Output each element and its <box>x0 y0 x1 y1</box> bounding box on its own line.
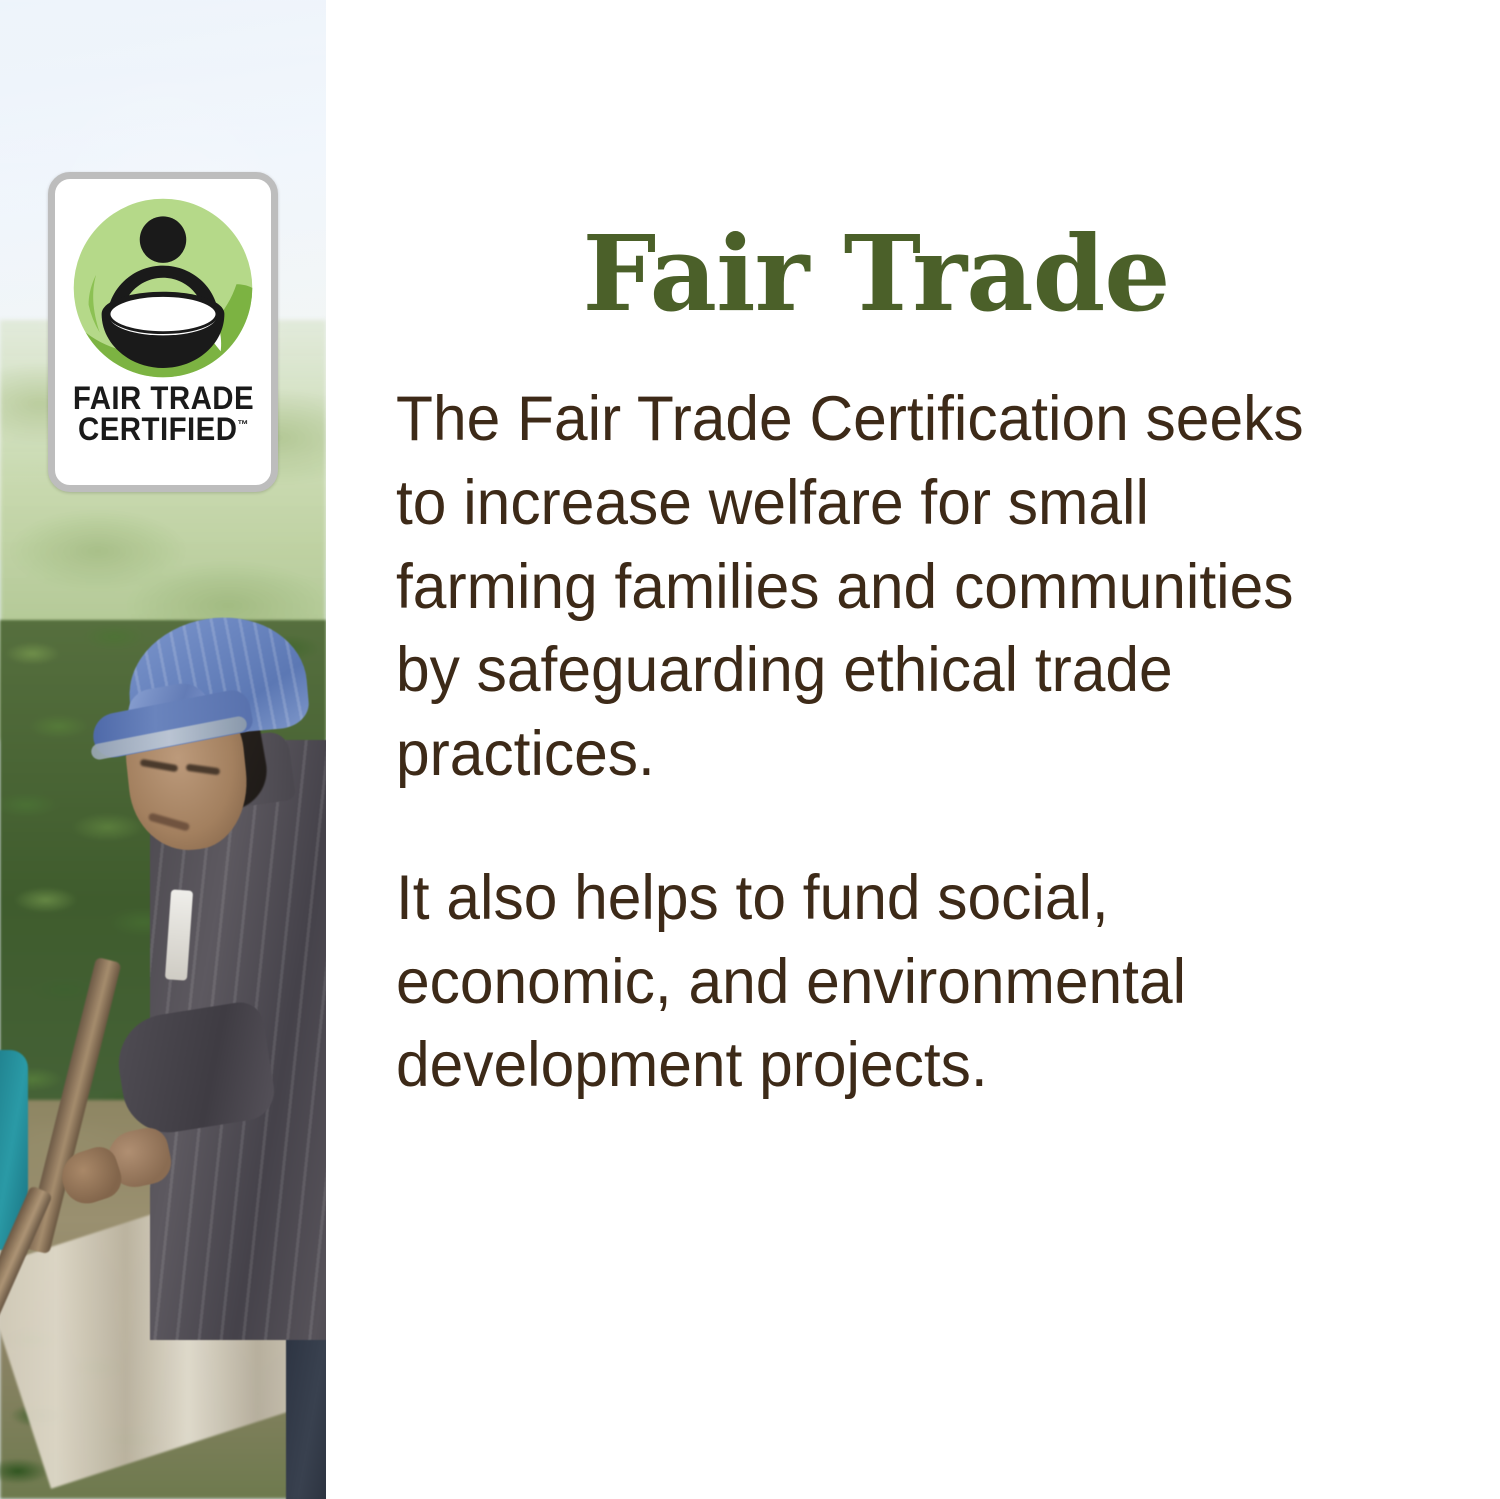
body-text-block: The Fair Trade Certification seeks to in… <box>396 378 1406 1108</box>
page-title: Fair Trade <box>326 222 1426 326</box>
fair-trade-certified-logo: FAIR TRADE CERTIFIED™ <box>48 172 278 492</box>
logo-line-1: FAIR TRADE <box>72 383 253 414</box>
coffee-farmer-photo: FAIR TRADE CERTIFIED™ <box>0 0 326 1499</box>
paragraph-1: The Fair Trade Certification seeks to in… <box>396 378 1366 797</box>
logo-line-2: CERTIFIED™ <box>72 414 253 445</box>
infographic-page: FAIR TRADE CERTIFIED™ Fair Trade The Fai… <box>0 0 1500 1499</box>
fair-trade-person-bowl-icon <box>70 195 256 381</box>
logo-line-2-text: CERTIFIED <box>77 411 237 447</box>
trademark-symbol: ™ <box>237 417 249 431</box>
content-panel: Fair Trade The Fair Trade Certification … <box>326 0 1500 1499</box>
paragraph-2: It also helps to fund social, economic, … <box>396 857 1366 1108</box>
fair-trade-wordmark: FAIR TRADE CERTIFIED™ <box>65 383 262 444</box>
